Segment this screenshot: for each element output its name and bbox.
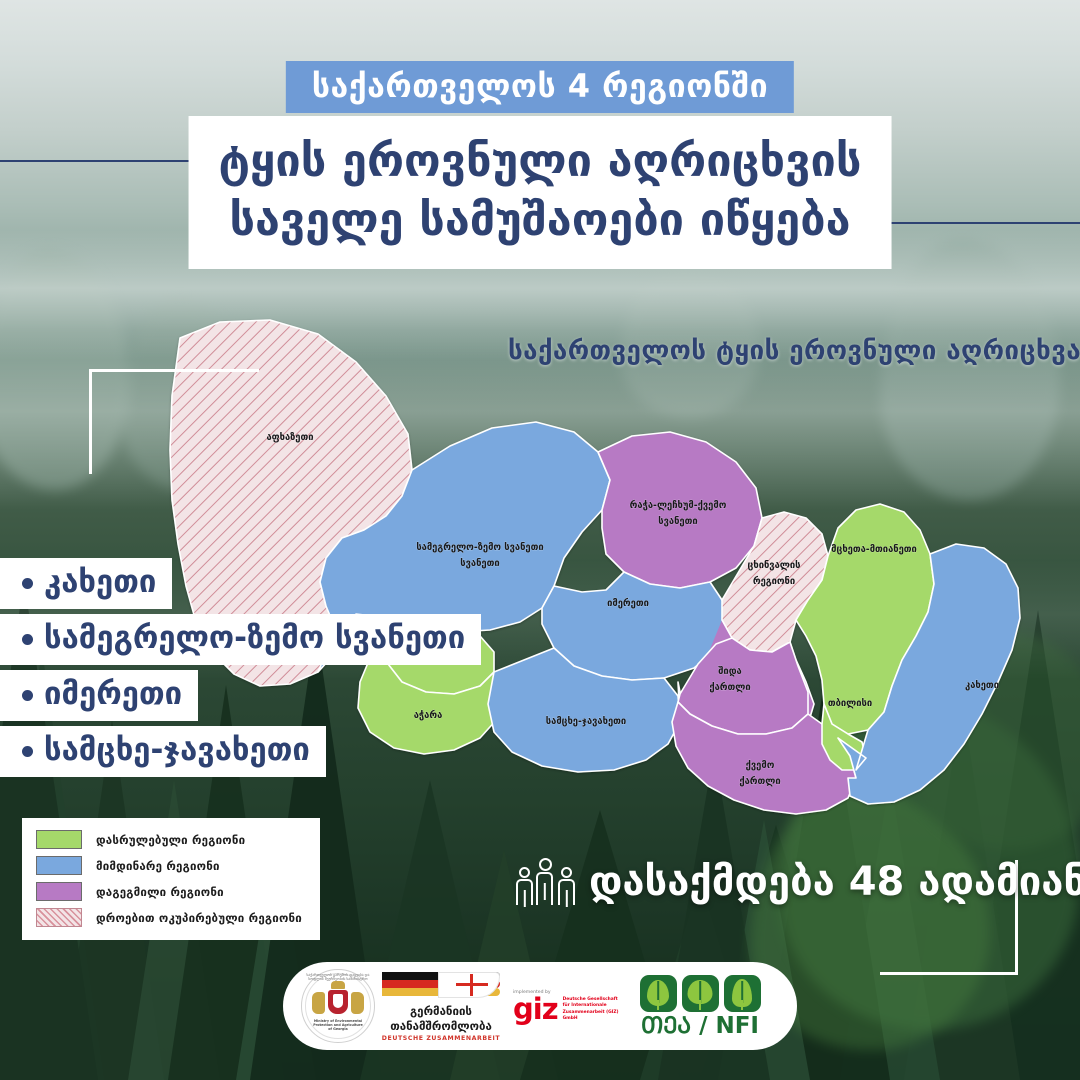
legend-label-completed: დასრულებული რეგიონი — [96, 833, 245, 847]
page-title: ტყის ეროვნული აღრიცხვის საველე სამუშაოებ… — [189, 116, 892, 269]
three-people-icon — [516, 858, 575, 905]
legend-item-completed: დასრულებული რეგიონი — [36, 830, 302, 849]
bullet-dot-icon — [22, 746, 33, 757]
emblem-circular-text: საქართველოს გარემოს დაცვისა და სოფლის მე… — [302, 973, 374, 981]
bullet-label: სამეგრელო-ზემო სვანეთი — [44, 620, 465, 656]
bullet-item-kakheti: კახეთი — [0, 558, 172, 609]
german-coop-line-2: თანამშრომლობა — [390, 1019, 492, 1033]
giz-wordmark: giz — [513, 998, 558, 1021]
german-coop-subtitle: DEUTSCHE ZUSAMMENARBEIT — [382, 1035, 500, 1042]
person-icon — [516, 867, 533, 905]
bullet-dot-icon — [22, 690, 33, 701]
legend-swatch-completed — [36, 830, 82, 849]
map-label-kakheti: კახეთი — [965, 680, 999, 691]
map-label-racha: რაჭა-ლეჩხუმ-ქვემო — [630, 500, 727, 511]
map-label-tskhinvali: ცხინვალის — [748, 560, 801, 571]
headline-line-2: საველე სამუშაოები იწყება — [219, 191, 862, 250]
ministry-logo: საქართველოს გარემოს დაცვისა და სოფლის მე… — [301, 969, 375, 1043]
german-georgian-flag-icon — [382, 970, 500, 1004]
giz-logo: implemented by giz Deutsche Gesellschaft… — [507, 990, 633, 1023]
map-label-imereti: იმერეთი — [607, 598, 649, 609]
map-label-kvemo-kartli-2: ქართლი — [739, 776, 780, 787]
legend-label-occupied: დროებით ოკუპირებული რეგიონი — [96, 911, 302, 925]
bullet-item-samegrelo: სამეგრელო-ზემო სვანეთი — [0, 614, 481, 665]
kicker-badge: საქართველოს 4 რეგიონში — [286, 61, 794, 113]
legend-item-occupied: დროებით ოკუპირებული რეგიონი — [36, 908, 302, 927]
bullet-dot-icon — [22, 578, 33, 589]
georgia-coat-of-arms-icon: საქართველოს გარემოს დაცვისა და სოფლის მე… — [301, 969, 375, 1043]
partner-logo-bar: საქართველოს გარემოს დაცვისა და სოფლის მე… — [283, 962, 797, 1050]
person-icon — [558, 867, 575, 905]
person-body — [558, 879, 575, 905]
map-label-samegrelo: სამეგრელო-ზემო სვანეთი — [416, 542, 543, 553]
map-label-racha-2: სვანეთი — [658, 516, 697, 527]
map-label-samtskhe-javakheti: სამცხე-ჯავახეთი — [546, 716, 626, 727]
map-label-tskhinvali-2: რეგიონი — [753, 576, 795, 587]
headline-line-1: ტყის ეროვნული აღრიცხვის — [219, 132, 862, 191]
person-body — [516, 879, 533, 905]
emblem-crown — [331, 981, 345, 989]
emblem-lion-right — [351, 992, 364, 1014]
broadleaf-icon — [640, 975, 677, 1012]
emblem-shield — [328, 990, 348, 1014]
bullet-label: იმერეთი — [44, 676, 182, 712]
bullet-label: კახეთი — [44, 564, 156, 600]
legend-label-planned: დაგეგმილი რეგიონი — [96, 885, 224, 899]
leaf-stem — [699, 1000, 701, 1010]
emblem-caption-3: of Georgia — [302, 1027, 374, 1031]
german-coop-line-1: გერმანიის — [390, 1004, 492, 1018]
legend-item-ongoing: მიმდინარე რეგიონი — [36, 856, 302, 875]
german-coop-title: გერმანიის თანამშრომლობა — [390, 1004, 492, 1033]
nfi-label: ᲗᲔᲐ / NFI — [641, 1015, 759, 1038]
legend-swatch-ongoing — [36, 856, 82, 875]
giz-logo-row: giz Deutsche Gesellschaft für Internatio… — [513, 997, 633, 1023]
map-label-abkhazeti: აფხაზეთი — [266, 432, 313, 443]
nfi-leaf-row — [640, 975, 761, 1012]
leaf-stem — [657, 1000, 659, 1010]
employment-stat: დასაქმდება 48 ადამიანი — [516, 858, 1080, 905]
legend-label-ongoing: მიმდინარე რეგიონი — [96, 859, 220, 873]
map-label-kvemo-kartli: ქვემო — [746, 760, 775, 771]
bullet-item-samtskhe-javakheti: სამცხე-ჯავახეთი — [0, 726, 326, 777]
georgian-flag-cross-v — [470, 974, 473, 996]
map-title: საქართველოს ტყის ეროვნული აღრიცხვა — [508, 336, 1080, 366]
person-head — [561, 867, 572, 878]
map-label-shida-kartli: შიდა — [718, 666, 741, 677]
german-cooperation-logo: გერმანიის თანამშრომლობა DEUTSCHE ZUSAMME… — [375, 970, 507, 1042]
leaf-stem — [741, 1000, 743, 1010]
region-bullet-list: კახეთი სამეგრელო-ზემო სვანეთი იმერეთი სა… — [0, 558, 481, 777]
emblem-lion-left — [312, 992, 325, 1014]
person-head — [539, 858, 552, 871]
person-body — [536, 872, 553, 905]
roundleaf-icon — [682, 975, 719, 1012]
map-label-shida-kartli-2: ქართლი — [709, 682, 750, 693]
map-label-mtskheta-mtianeti: მცხეთა-მთიანეთი — [831, 544, 917, 555]
corner-bracket-top-left — [89, 369, 259, 474]
map-label-tbilisi: თბილისი — [828, 698, 872, 709]
conifer-icon — [724, 975, 761, 1012]
person-head — [519, 867, 530, 878]
giz-desc-3: Zusammenarbeit (GIZ) GmbH — [563, 1010, 633, 1023]
legend-swatch-planned — [36, 882, 82, 901]
legend-swatch-occupied — [36, 908, 82, 927]
bullet-label: სამცხე-ჯავახეთი — [44, 732, 310, 768]
emblem-caption: Ministry of Environmental Protection and… — [302, 1019, 374, 1031]
giz-description: Deutsche Gesellschaft für Internationale… — [563, 997, 633, 1023]
bullet-dot-icon — [22, 634, 33, 645]
legend-item-planned: დაგეგმილი რეგიონი — [36, 882, 302, 901]
bullet-item-imereti: იმერეთი — [0, 670, 198, 721]
map-legend: დასრულებული რეგიონი მიმდინარე რეგიონი და… — [22, 818, 320, 940]
person-icon — [536, 858, 555, 905]
employment-stat-text: დასაქმდება 48 ადამიანი — [589, 862, 1080, 902]
nfi-logo: ᲗᲔᲐ / NFI — [633, 975, 767, 1038]
